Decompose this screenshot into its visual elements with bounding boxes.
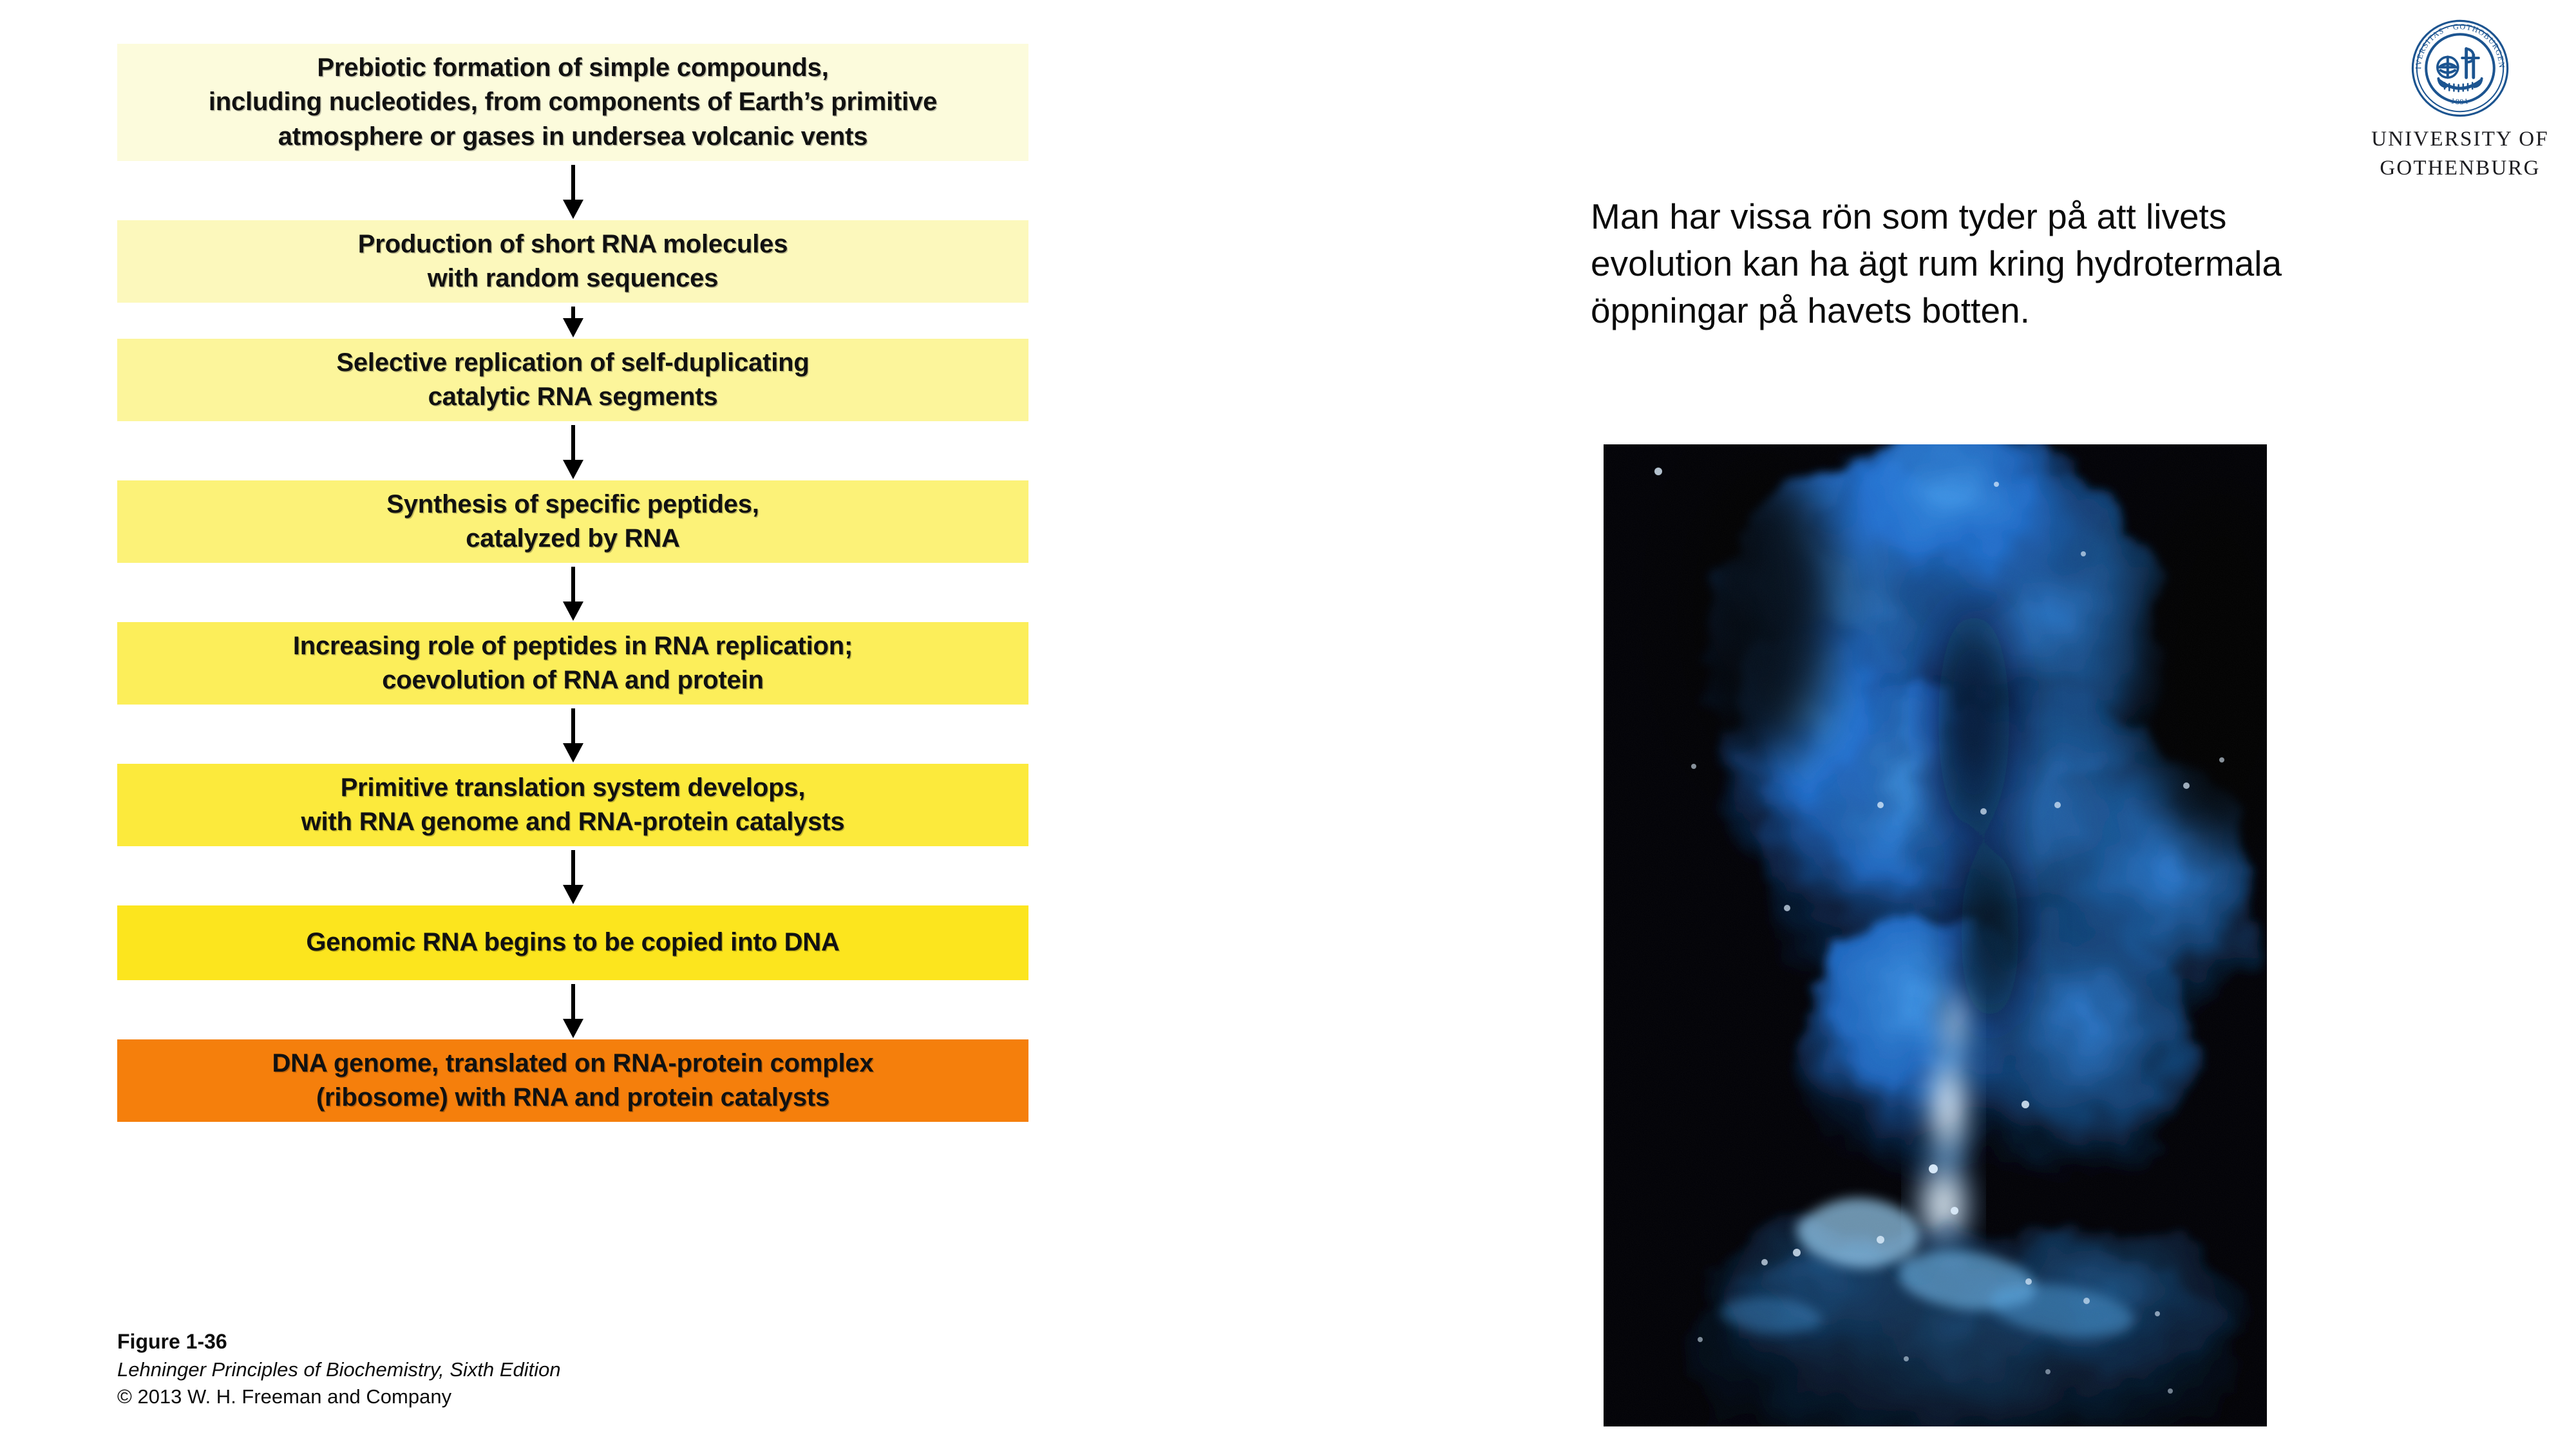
flow-step-prebiotic-formation: Prebiotic formation of simple compounds,… xyxy=(117,44,1028,161)
svg-text:· 1891 ·: · 1891 · xyxy=(2443,94,2477,106)
flow-step-label: Genomic RNA begins to be copied into DNA xyxy=(306,925,839,960)
university-logo: UNIVERSITAS · GOTHOBURGENSIS · 1891 · UN xyxy=(2344,17,2576,182)
figure-caption: Figure 1-36 Lehninger Principles of Bioc… xyxy=(117,1328,1083,1411)
flow-diagram: Prebiotic formation of simple compounds,… xyxy=(117,44,1028,1122)
arrow-head-icon xyxy=(563,743,583,762)
flow-step-label: Primitive translation system develops, w… xyxy=(301,771,845,839)
flow-step-label: DNA genome, translated on RNA-protein co… xyxy=(272,1046,873,1115)
figure-source-book: Lehninger Principles of Biochemistry, Si… xyxy=(117,1356,1083,1383)
flow-arrow xyxy=(117,980,1028,1039)
flow-step-short-rna-production: Production of short RNA molecules with r… xyxy=(117,220,1028,303)
flow-step-primitive-translation: Primitive translation system develops, w… xyxy=(117,764,1028,846)
figure-number: Figure 1-36 xyxy=(117,1328,1083,1356)
flow-step-label: Prebiotic formation of simple compounds,… xyxy=(209,51,937,154)
flow-arrow xyxy=(117,705,1028,764)
body-paragraph: Man har vissa rön som tyder på att livet… xyxy=(1591,193,2357,334)
figure-copyright: © 2013 W. H. Freeman and Company xyxy=(117,1383,1083,1410)
arrow-head-icon xyxy=(563,601,583,621)
flow-arrow xyxy=(117,846,1028,905)
flow-step-label: Synthesis of specific peptides, catalyze… xyxy=(386,488,759,556)
hydrothermal-vent-photo xyxy=(1604,444,2267,1426)
flow-step-label: Selective replication of self-duplicatin… xyxy=(336,346,809,414)
university-wordmark: UNIVERSITY OF GOTHENBURG xyxy=(2344,125,2576,182)
flow-arrow xyxy=(117,421,1028,480)
arrow-head-icon xyxy=(563,200,583,219)
flow-arrow xyxy=(117,563,1028,622)
flow-step-rna-to-dna: Genomic RNA begins to be copied into DNA xyxy=(117,905,1028,980)
flow-step-peptide-rna-coevolution: Increasing role of peptides in RNA repli… xyxy=(117,622,1028,705)
flow-step-dna-genome-ribosome: DNA genome, translated on RNA-protein co… xyxy=(117,1039,1028,1122)
flow-arrow xyxy=(117,303,1028,339)
arrow-head-icon xyxy=(563,885,583,904)
flow-step-peptide-synthesis: Synthesis of specific peptides, catalyze… xyxy=(117,480,1028,563)
arrow-head-icon xyxy=(563,318,583,337)
wordmark-line-1: UNIVERSITY OF xyxy=(2344,125,2576,154)
university-seal-icon: UNIVERSITAS · GOTHOBURGENSIS · 1891 · xyxy=(2344,17,2576,120)
arrow-head-icon xyxy=(563,460,583,479)
flow-step-label: Increasing role of peptides in RNA repli… xyxy=(293,629,853,697)
flow-step-label: Production of short RNA molecules with r… xyxy=(358,227,788,296)
arrow-head-icon xyxy=(563,1019,583,1038)
flow-arrow xyxy=(117,161,1028,220)
flow-step-selective-replication: Selective replication of self-duplicatin… xyxy=(117,339,1028,421)
wordmark-line-2: GOTHENBURG xyxy=(2344,154,2576,183)
